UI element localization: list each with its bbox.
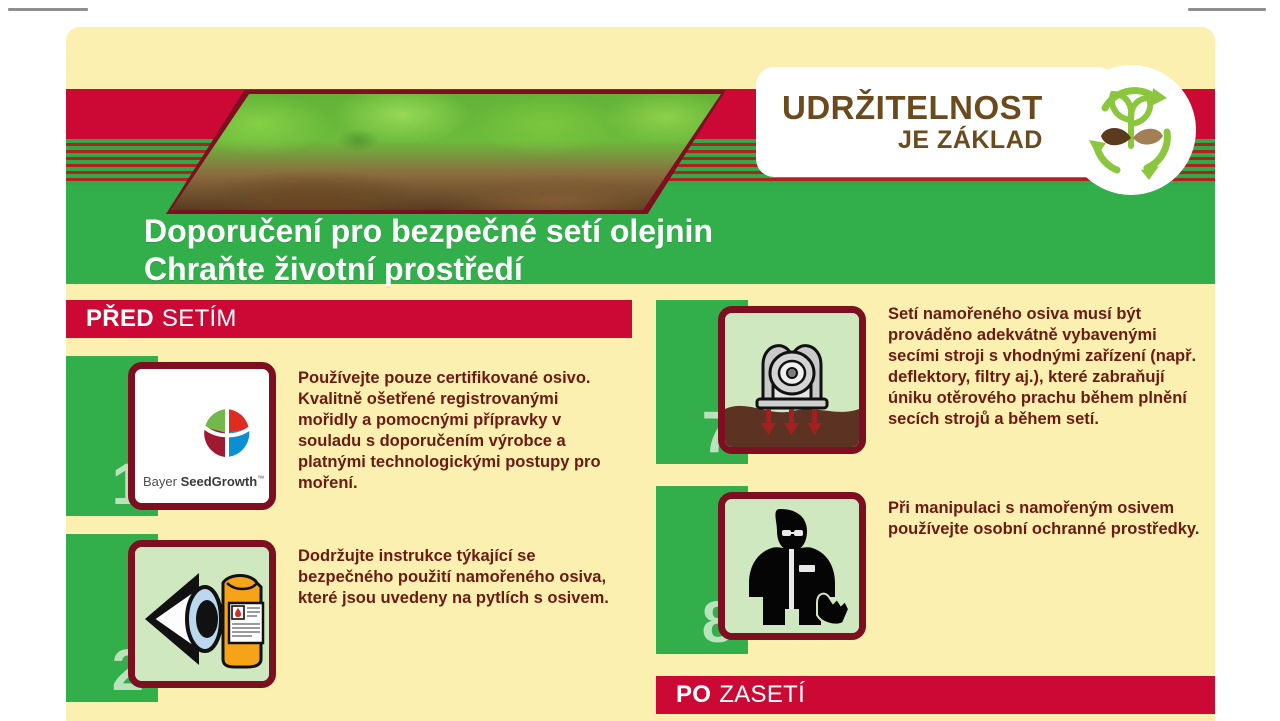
item-text: Dodržujte instrukce týkající se bezpečné…	[276, 534, 632, 702]
poster-screenshot: UDRŽITELNOST JE ZÁKLAD	[0, 0, 1280, 721]
item-text: Používejte pouze certifikované osivo. Kv…	[276, 356, 632, 516]
hero-photo	[171, 94, 721, 210]
page-title: Doporučení pro bezpečné setí olejnin Chr…	[144, 212, 713, 288]
sustainability-badge-text: UDRŽITELNOST JE ZÁKLAD	[756, 91, 1043, 153]
bayer-cross-sphere-icon	[201, 407, 253, 459]
section-header-bold: PO	[676, 681, 711, 709]
protective-suit-gloves-icon	[718, 492, 866, 640]
page-guide-mark-left	[8, 8, 88, 11]
eye-reading-seed-bag-label-icon	[128, 540, 276, 688]
list-item: 1	[66, 356, 632, 516]
sustainability-badge-line2: JE ZÁKLAD	[782, 128, 1043, 153]
bayer-logo-label: Bayer SeedGrowth™	[143, 474, 263, 489]
bayer-seedgrowth-logo: Bayer SeedGrowth™	[128, 362, 276, 510]
section-header-regular: SETÍM	[162, 305, 237, 333]
list-item: 8	[656, 486, 1215, 654]
section-header-regular: ZASETÍ	[719, 681, 805, 709]
bayer-logo-inner: Bayer SeedGrowth™	[135, 369, 269, 503]
sustainability-badge: UDRŽITELNOST JE ZÁKLAD	[756, 67, 1116, 177]
bayer-product: SeedGrowth	[181, 474, 258, 489]
section-header-before-sowing: PŘED SETÍM	[66, 300, 632, 338]
section-header-bold: PŘED	[86, 305, 154, 333]
section-header-after-sowing: PO ZASETÍ	[656, 676, 1215, 714]
sustainability-badge-line1: UDRŽITELNOST	[782, 91, 1043, 124]
leaf-recycle-icon	[1066, 65, 1196, 195]
page-guide-mark-right	[1188, 8, 1266, 11]
page-title-line1: Doporučení pro bezpečné setí olejnin	[144, 212, 713, 250]
left-column: PŘED SETÍM 1	[66, 300, 632, 702]
item-text: Při manipulaci s namořeným osivem použív…	[866, 486, 1215, 654]
bayer-brand: Bayer	[143, 474, 177, 489]
bayer-trademark: ™	[257, 476, 264, 483]
right-column: 7	[656, 300, 1215, 714]
poster-sheet: UDRŽITELNOST JE ZÁKLAD	[66, 27, 1215, 721]
page-title-line2: Chraňte životní prostředí	[144, 250, 713, 288]
list-item: 7	[656, 300, 1215, 464]
item-text: Setí namořeného osiva musí být prováděno…	[866, 300, 1215, 464]
list-item: 2	[66, 534, 632, 702]
seed-drill-deflector-icon	[718, 306, 866, 454]
